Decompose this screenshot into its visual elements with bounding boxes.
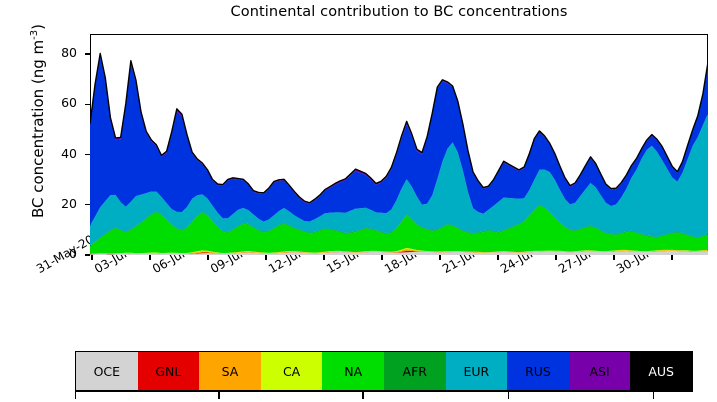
- legend-axis: [75, 391, 693, 402]
- x-tick-mark: [555, 255, 556, 260]
- legend-axis-tick: [218, 391, 219, 399]
- x-tick-mark: [149, 255, 150, 260]
- x-tick-mark: [613, 255, 614, 260]
- legend-item-eur[interactable]: EUR: [446, 352, 508, 390]
- chart-figure: Continental contribution to BC concentra…: [0, 0, 717, 402]
- legend-item-gnl[interactable]: GNL: [138, 352, 200, 390]
- x-tick-mark: [671, 255, 672, 260]
- stacked-area-series: [90, 34, 708, 255]
- x-tick-mark: [381, 255, 382, 260]
- legend-item-ca[interactable]: CA: [261, 352, 323, 390]
- y-tick-label: 60: [37, 95, 77, 110]
- legend-item-na[interactable]: NA: [322, 352, 384, 390]
- y-axis-label-text: BC concentration (ng m: [29, 40, 47, 218]
- legend: OCEGNLSACANAAFREURRUSASIAUS: [75, 351, 693, 391]
- x-tick-mark: [207, 255, 208, 260]
- x-tick-mark: [91, 255, 92, 260]
- legend-item-oce[interactable]: OCE: [76, 352, 138, 390]
- plot-area: [90, 34, 708, 255]
- x-tick-mark: [323, 255, 324, 260]
- y-axis-label: BC concentration (ng m-3): [29, 0, 47, 251]
- y-tick-label: 40: [37, 146, 77, 161]
- legend-item-asi[interactable]: ASI: [569, 352, 631, 390]
- x-tick-mark: [439, 255, 440, 260]
- legend-axis-tick: [508, 391, 509, 399]
- legend-axis-tick: [653, 391, 654, 399]
- x-tick-mark: [265, 255, 266, 260]
- y-tick-label: 80: [37, 45, 77, 60]
- legend-item-sa[interactable]: SA: [199, 352, 261, 390]
- y-axis-label-exponent: -3: [29, 30, 40, 40]
- legend-item-afr[interactable]: AFR: [384, 352, 446, 390]
- chart-title: Continental contribution to BC concentra…: [90, 4, 708, 20]
- x-tick-mark: [497, 255, 498, 260]
- legend-axis-line: [75, 391, 693, 392]
- y-tick-label: 20: [37, 196, 77, 211]
- legend-item-aus[interactable]: AUS: [630, 352, 692, 390]
- y-axis-label-tail: ): [29, 24, 47, 30]
- legend-axis-tick: [75, 391, 76, 399]
- legend-item-rus[interactable]: RUS: [507, 352, 569, 390]
- legend-axis-tick: [362, 391, 363, 399]
